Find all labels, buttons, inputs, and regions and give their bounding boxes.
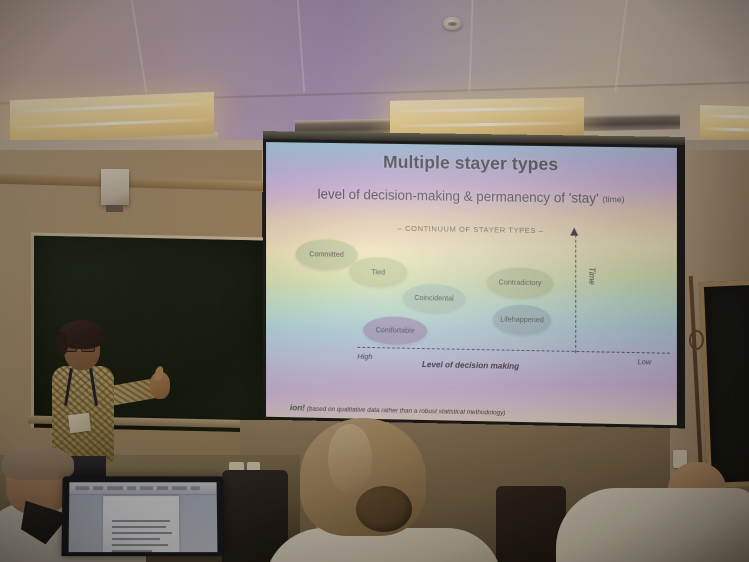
laptop-document <box>103 496 180 552</box>
wall-speaker <box>101 169 129 205</box>
stayer-type-bubble: Tied <box>349 257 407 287</box>
ceiling-light-right <box>700 105 749 141</box>
audience-member-right <box>556 488 749 562</box>
screen-border: Multiple stayer types level of decision-… <box>263 139 685 428</box>
laptop-screen[interactable] <box>69 482 218 552</box>
audience-member-center <box>276 418 490 562</box>
audience-center-hair-highlight <box>328 424 372 494</box>
presenter-glasses-icon <box>63 343 95 350</box>
bubble-label: Committed <box>309 251 344 259</box>
projection-screen: Multiple stayer types level of decision-… <box>263 139 685 428</box>
laptop-lid <box>61 476 224 556</box>
audience-left-hair <box>2 446 74 480</box>
bubble-label: Tied <box>371 268 385 276</box>
axis-label-x: Level of decision making <box>266 357 677 374</box>
footnote-lead: ion! <box>290 402 305 412</box>
time-axis-line <box>575 235 576 353</box>
stayer-type-bubble: Coincidental <box>403 284 465 313</box>
decision-axis-line <box>357 347 670 354</box>
bubble-label: Comfortable <box>376 326 415 334</box>
stayer-types-diagram: High Low Level of decision making Time C… <box>266 142 677 425</box>
stayer-type-bubble: Comfortable <box>363 316 427 345</box>
bubble-label: Life <box>500 316 512 324</box>
presenter-badge <box>68 413 91 433</box>
bubble-label: Coincidental <box>414 294 453 302</box>
stayer-type-bubble: Lifehappened <box>493 304 551 335</box>
ceiling-light-left <box>10 92 214 143</box>
axis-label-y: Time <box>587 267 596 285</box>
classroom-photo: Multiple stayer types level of decision-… <box>0 0 749 562</box>
pole-handle <box>689 330 704 350</box>
audience-center-bun <box>356 486 412 532</box>
time-axis-arrow-icon <box>570 228 578 236</box>
framed-board <box>699 280 749 488</box>
presentation-slide: Multiple stayer types level of decision-… <box>266 142 677 425</box>
stayer-type-bubble: Contradictory <box>487 267 553 298</box>
smoke-detector-icon <box>443 17 462 30</box>
laptop[interactable] <box>62 476 224 562</box>
bubble-label: Contradictory <box>499 279 542 287</box>
laptop-toolbar[interactable] <box>69 482 216 495</box>
bubble-label: happened <box>512 316 544 324</box>
stayer-type-bubble: Committed <box>296 239 358 270</box>
